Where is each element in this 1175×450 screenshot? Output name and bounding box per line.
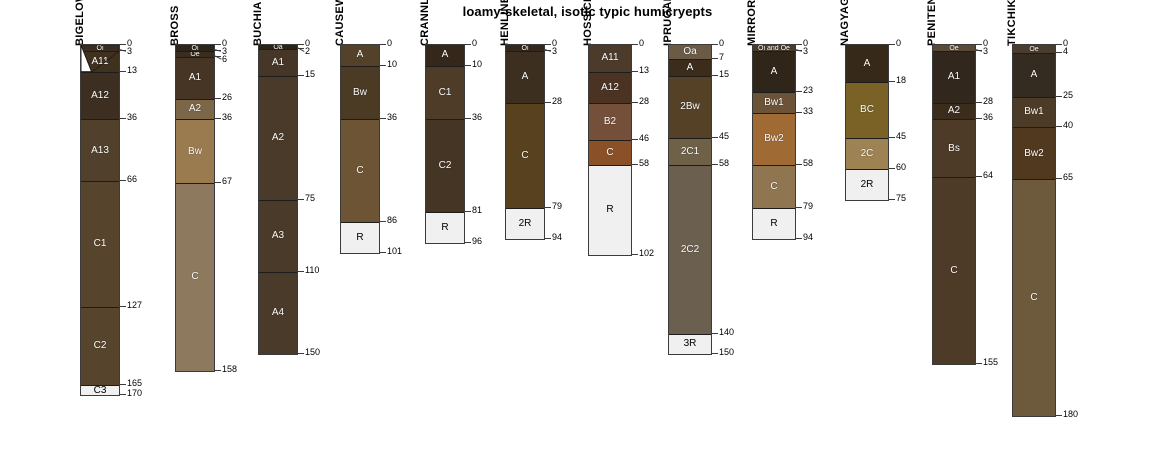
depth-label: 25 [1063, 91, 1073, 100]
depth-tick [1055, 52, 1062, 53]
depth-label: 7 [719, 53, 724, 62]
horizon-label: Oe [1029, 46, 1038, 53]
depth-label: 3 [552, 47, 557, 56]
depth-label: 26 [222, 93, 232, 102]
horizon-a: A [426, 45, 464, 66]
profile-name-label: BUCHIA [252, 1, 264, 46]
depth-label: 79 [803, 202, 813, 211]
depth-label: 150 [719, 348, 734, 357]
depth-label: 46 [639, 134, 649, 143]
depth-label: 36 [387, 113, 397, 122]
depth-tick [795, 164, 802, 165]
depth-label: 81 [472, 206, 482, 215]
depth-label: 15 [719, 70, 729, 79]
depth-tick [631, 139, 638, 140]
horizon-label: A [442, 50, 449, 60]
horizon-label: R [606, 205, 613, 215]
horizon-label: C [770, 182, 777, 192]
depth-label: 94 [803, 233, 813, 242]
depth-tick [975, 363, 982, 364]
depth-label: 155 [983, 358, 998, 367]
horizon-a3: A3 [259, 200, 297, 272]
profile-name-label: TIKCHIK [1006, 0, 1018, 46]
depth-tick [795, 91, 802, 92]
depth-tick [214, 118, 221, 119]
depth-tick [119, 384, 126, 385]
horizon-label: Bw [353, 88, 367, 98]
depth-tick [379, 118, 386, 119]
profile-column: OaA2Bw2C12C23R [668, 44, 712, 355]
horizon-label: A [357, 50, 364, 60]
depth-tick [795, 44, 802, 45]
horizon-c: C [176, 183, 214, 371]
profile-name-label: PENITENTE [926, 0, 938, 46]
depth-tick [631, 44, 638, 45]
horizon-b2: B2 [589, 103, 631, 140]
depth-tick [214, 44, 221, 45]
horizon-label: A3 [272, 231, 284, 241]
depth-label: 13 [127, 66, 137, 75]
horizon-label: A11 [91, 57, 108, 67]
horizon-oa: Oa [669, 45, 711, 59]
depth-label: 36 [127, 113, 137, 122]
depth-label: 36 [472, 113, 482, 122]
horizon-r: R [589, 165, 631, 256]
depth-label: 75 [896, 194, 906, 203]
profile-name-label: CAUSEWA [334, 0, 346, 46]
horizon-label: C [356, 166, 363, 176]
horizon-label: R [356, 233, 363, 243]
profile-column: ABwCR [340, 44, 380, 254]
horizon-c: C [1013, 179, 1055, 416]
horizon-c2: C2 [81, 307, 119, 385]
horizon-a1: A1 [933, 51, 975, 103]
horizon-label: 2R [861, 180, 874, 190]
horizon-label: A12 [601, 83, 619, 93]
horizon-label: R [770, 219, 777, 229]
depth-tick [711, 164, 718, 165]
horizon-label: A11 [601, 53, 618, 63]
depth-label: 4 [1063, 47, 1068, 56]
depth-label: 58 [639, 159, 649, 168]
horizon-label: C2 [94, 341, 107, 351]
depth-label: 0 [639, 39, 644, 48]
depth-tick [975, 118, 982, 119]
depth-label: 3 [127, 47, 132, 56]
horizon-a: A [846, 45, 888, 82]
depth-tick [119, 71, 126, 72]
depth-label: 40 [1063, 121, 1073, 130]
horizon-a: A [669, 59, 711, 75]
depth-label: 0 [719, 39, 724, 48]
horizon-label: 3R [684, 339, 697, 349]
horizon-label: A2 [948, 106, 960, 116]
horizon-bw2: Bw2 [753, 113, 795, 165]
depth-tick [119, 44, 126, 45]
depth-label: 86 [387, 216, 397, 225]
depth-tick [119, 118, 126, 119]
depth-label: 6 [222, 55, 227, 64]
horizon-label: Bs [948, 144, 960, 154]
depth-tick [711, 353, 718, 354]
horizon-label: Bw1 [764, 98, 783, 108]
depth-tick [379, 44, 386, 45]
horizon-c3: C3 [81, 385, 119, 395]
depth-label: 140 [719, 328, 734, 337]
horizon-label: Bw2 [1024, 149, 1043, 159]
depth-tick [214, 98, 221, 99]
depth-label: 102 [639, 249, 654, 258]
horizon-c2: C2 [426, 119, 464, 212]
horizon-label: A [522, 72, 529, 82]
horizon-label: C [191, 272, 198, 282]
profile-column: Oi and OeABw1Bw2CR [752, 44, 796, 240]
depth-label: 66 [127, 175, 137, 184]
horizon-3r: 3R [669, 334, 711, 355]
horizon-label: 2C1 [681, 147, 699, 157]
profile-name-label: HENLINE [499, 0, 511, 46]
depth-tick [795, 112, 802, 113]
horizon-r: R [753, 208, 795, 239]
horizon-label: A [864, 59, 871, 69]
horizon-label: 2C2 [681, 245, 699, 255]
depth-label: 165 [127, 379, 142, 388]
profile-name-label: BIGELOW [74, 0, 86, 46]
depth-tick [297, 75, 304, 76]
depth-tick [297, 199, 304, 200]
horizon-label: Bw [188, 147, 202, 157]
depth-tick [888, 199, 895, 200]
horizon-bw2: Bw2 [1013, 127, 1055, 179]
depth-tick [1055, 178, 1062, 179]
depth-tick [711, 137, 718, 138]
depth-tick [214, 182, 221, 183]
depth-label: 15 [305, 70, 315, 79]
depth-tick [464, 242, 471, 243]
horizon-label: C1 [94, 239, 107, 249]
depth-label: 28 [983, 97, 993, 106]
horizon-bw: Bw [341, 66, 379, 120]
profile-column: A11A12B2CR [588, 44, 632, 256]
depth-tick [1055, 126, 1062, 127]
horizon-2c: 2C [846, 138, 888, 169]
horizon-label: A2 [272, 133, 284, 143]
horizon-2c1: 2C1 [669, 138, 711, 165]
depth-tick [888, 168, 895, 169]
profile-column: OeABw1Bw2C [1012, 44, 1056, 417]
depth-label: 45 [896, 132, 906, 141]
depth-tick [795, 238, 802, 239]
depth-label: 0 [896, 39, 901, 48]
depth-label: 150 [305, 348, 320, 357]
depth-label: 58 [719, 159, 729, 168]
depth-tick [464, 118, 471, 119]
horizon-label: C [606, 148, 613, 158]
depth-label: 158 [222, 365, 237, 374]
depth-tick [544, 238, 551, 239]
depth-tick [975, 176, 982, 177]
profile-name-label: CRANNLER [419, 0, 431, 46]
depth-tick [297, 271, 304, 272]
profile-name-label: HOSSICK [582, 0, 594, 46]
depth-label: 79 [552, 202, 562, 211]
depth-tick [214, 370, 221, 371]
horizon-c: C [589, 140, 631, 165]
horizon-bs: Bs [933, 119, 975, 177]
depth-tick [888, 137, 895, 138]
depth-label: 60 [896, 163, 906, 172]
horizon-label: C3 [94, 386, 107, 396]
horizon-label: C [1030, 293, 1037, 303]
horizon-a: A [753, 51, 795, 92]
horizon-label: A1 [272, 58, 284, 68]
depth-tick [1055, 44, 1062, 45]
depth-tick [544, 102, 551, 103]
profile-column: AC1C2R [425, 44, 465, 244]
horizon-a: A [341, 45, 379, 66]
horizon-label: BC [860, 105, 874, 115]
horizon-a: A [1013, 53, 1055, 96]
horizon-a2: A2 [176, 99, 214, 120]
horizon-bw1: Bw1 [753, 92, 795, 113]
horizon-label: 2C [861, 149, 874, 159]
profile-column: ABC2C2R [845, 44, 889, 201]
horizon-label: B2 [604, 117, 616, 127]
horizon-label: C2 [439, 161, 452, 171]
depth-label: 28 [639, 97, 649, 106]
horizon-label: A1 [189, 73, 201, 83]
depth-tick [711, 333, 718, 334]
depth-tick [975, 44, 982, 45]
horizon-c: C [341, 119, 379, 222]
horizon-bw1: Bw1 [1013, 97, 1055, 128]
depth-tick [297, 353, 304, 354]
profile-column: OaA1A2A3A4 [258, 44, 298, 355]
depth-tick [544, 44, 551, 45]
horizon-label: A13 [91, 146, 109, 156]
depth-tick [379, 65, 386, 66]
profile-name-label: NAGYAGAT [839, 0, 851, 46]
depth-tick [1055, 96, 1062, 97]
horizon-a12: A12 [589, 72, 631, 103]
horizon-label: A [1031, 70, 1038, 80]
horizon-label: Oa [683, 47, 696, 57]
profile-column: OeA1A2BsC [932, 44, 976, 365]
depth-label: 33 [803, 107, 813, 116]
horizon-a12: A12 [81, 72, 119, 119]
depth-label: 28 [552, 97, 562, 106]
depth-label: 36 [222, 113, 232, 122]
depth-label: 3 [803, 47, 808, 56]
horizon-label: A4 [272, 308, 284, 318]
horizon-r: R [341, 222, 379, 253]
horizon-bc: BC [846, 82, 888, 138]
horizon-label: A1 [948, 72, 960, 82]
depth-tick [1055, 415, 1062, 416]
horizon-label: A [771, 67, 778, 77]
depth-tick [464, 65, 471, 66]
horizon-label: 2Bw [680, 102, 699, 112]
horizon-r: R [426, 212, 464, 243]
horizon-label: 2R [519, 219, 532, 229]
horizon-label: A12 [91, 91, 109, 101]
horizon-label: A2 [189, 104, 201, 114]
depth-tick [711, 44, 718, 45]
depth-tick [464, 44, 471, 45]
depth-tick [631, 102, 638, 103]
depth-tick [711, 75, 718, 76]
depth-label: 64 [983, 171, 993, 180]
depth-tick [379, 252, 386, 253]
horizon-label: C [950, 266, 957, 276]
depth-tick [544, 207, 551, 208]
depth-tick [888, 44, 895, 45]
depth-label: 18 [896, 76, 906, 85]
horizon-c: C [933, 177, 975, 365]
horizon-oe: Oe [1013, 45, 1055, 53]
depth-tick [119, 306, 126, 307]
depth-label: 110 [305, 266, 319, 275]
depth-label: 0 [387, 39, 392, 48]
depth-tick [119, 394, 126, 395]
horizon-a1: A1 [176, 57, 214, 98]
horizon-c: C [753, 165, 795, 208]
horizon-a2: A2 [933, 103, 975, 119]
depth-tick [297, 44, 304, 45]
profile-column: OiAC2R [505, 44, 545, 240]
depth-tick [379, 221, 386, 222]
depth-label: 58 [803, 159, 813, 168]
depth-label: 170 [127, 389, 142, 398]
horizon-2bw: 2Bw [669, 76, 711, 138]
horizon-a13: A13 [81, 119, 119, 181]
depth-label: 36 [983, 113, 993, 122]
depth-tick [975, 102, 982, 103]
horizon-a4: A4 [259, 272, 297, 354]
depth-tick [631, 71, 638, 72]
horizon-a: A [506, 51, 544, 103]
horizon-bw: Bw [176, 119, 214, 183]
depth-tick [711, 58, 718, 59]
horizon-2c2: 2C2 [669, 165, 711, 334]
depth-label: 10 [472, 60, 482, 69]
depth-tick [631, 254, 638, 255]
horizon-2r: 2R [846, 169, 888, 200]
horizon-2r: 2R [506, 208, 544, 239]
profile-name-label: MIRROR [746, 0, 758, 46]
depth-label: 101 [387, 247, 402, 256]
profile-column: OiA11A12A13C1C2C3 [80, 44, 120, 396]
horizon-label: C [521, 151, 528, 161]
depth-label: 127 [127, 301, 142, 310]
depth-tick [888, 81, 895, 82]
depth-label: 75 [305, 194, 315, 203]
horizon-c: C [506, 103, 544, 208]
depth-label: 180 [1063, 410, 1078, 419]
horizon-a2: A2 [259, 76, 297, 200]
horizon-a11: A11 [589, 45, 631, 72]
depth-label: 94 [552, 233, 562, 242]
depth-label: 10 [387, 60, 397, 69]
profile-name-label: IPRUGALET [662, 0, 674, 46]
horizon-label: R [441, 223, 448, 233]
depth-label: 45 [719, 132, 729, 141]
horizon-label: C1 [439, 88, 452, 98]
depth-tick [631, 164, 638, 165]
depth-tick [464, 211, 471, 212]
depth-label: 2 [305, 47, 310, 56]
horizon-c1: C1 [81, 181, 119, 307]
depth-label: 96 [472, 237, 482, 246]
profile-column: OiOeA1A2BwC [175, 44, 215, 372]
depth-tick [119, 180, 126, 181]
depth-label: 23 [803, 86, 813, 95]
horizon-c1: C1 [426, 66, 464, 120]
horizon-a11: A11 [81, 51, 119, 72]
depth-label: 3 [983, 47, 988, 56]
depth-tick [795, 207, 802, 208]
depth-label: 67 [222, 177, 232, 186]
horizon-label: Bw1 [1024, 107, 1043, 117]
depth-label: 0 [472, 39, 477, 48]
profile-name-label: BROSS [169, 5, 181, 46]
depth-label: 65 [1063, 173, 1073, 182]
horizon-label: Bw2 [764, 134, 783, 144]
horizon-a1: A1 [259, 49, 297, 76]
depth-label: 13 [639, 66, 649, 75]
horizon-label: A [687, 63, 694, 73]
